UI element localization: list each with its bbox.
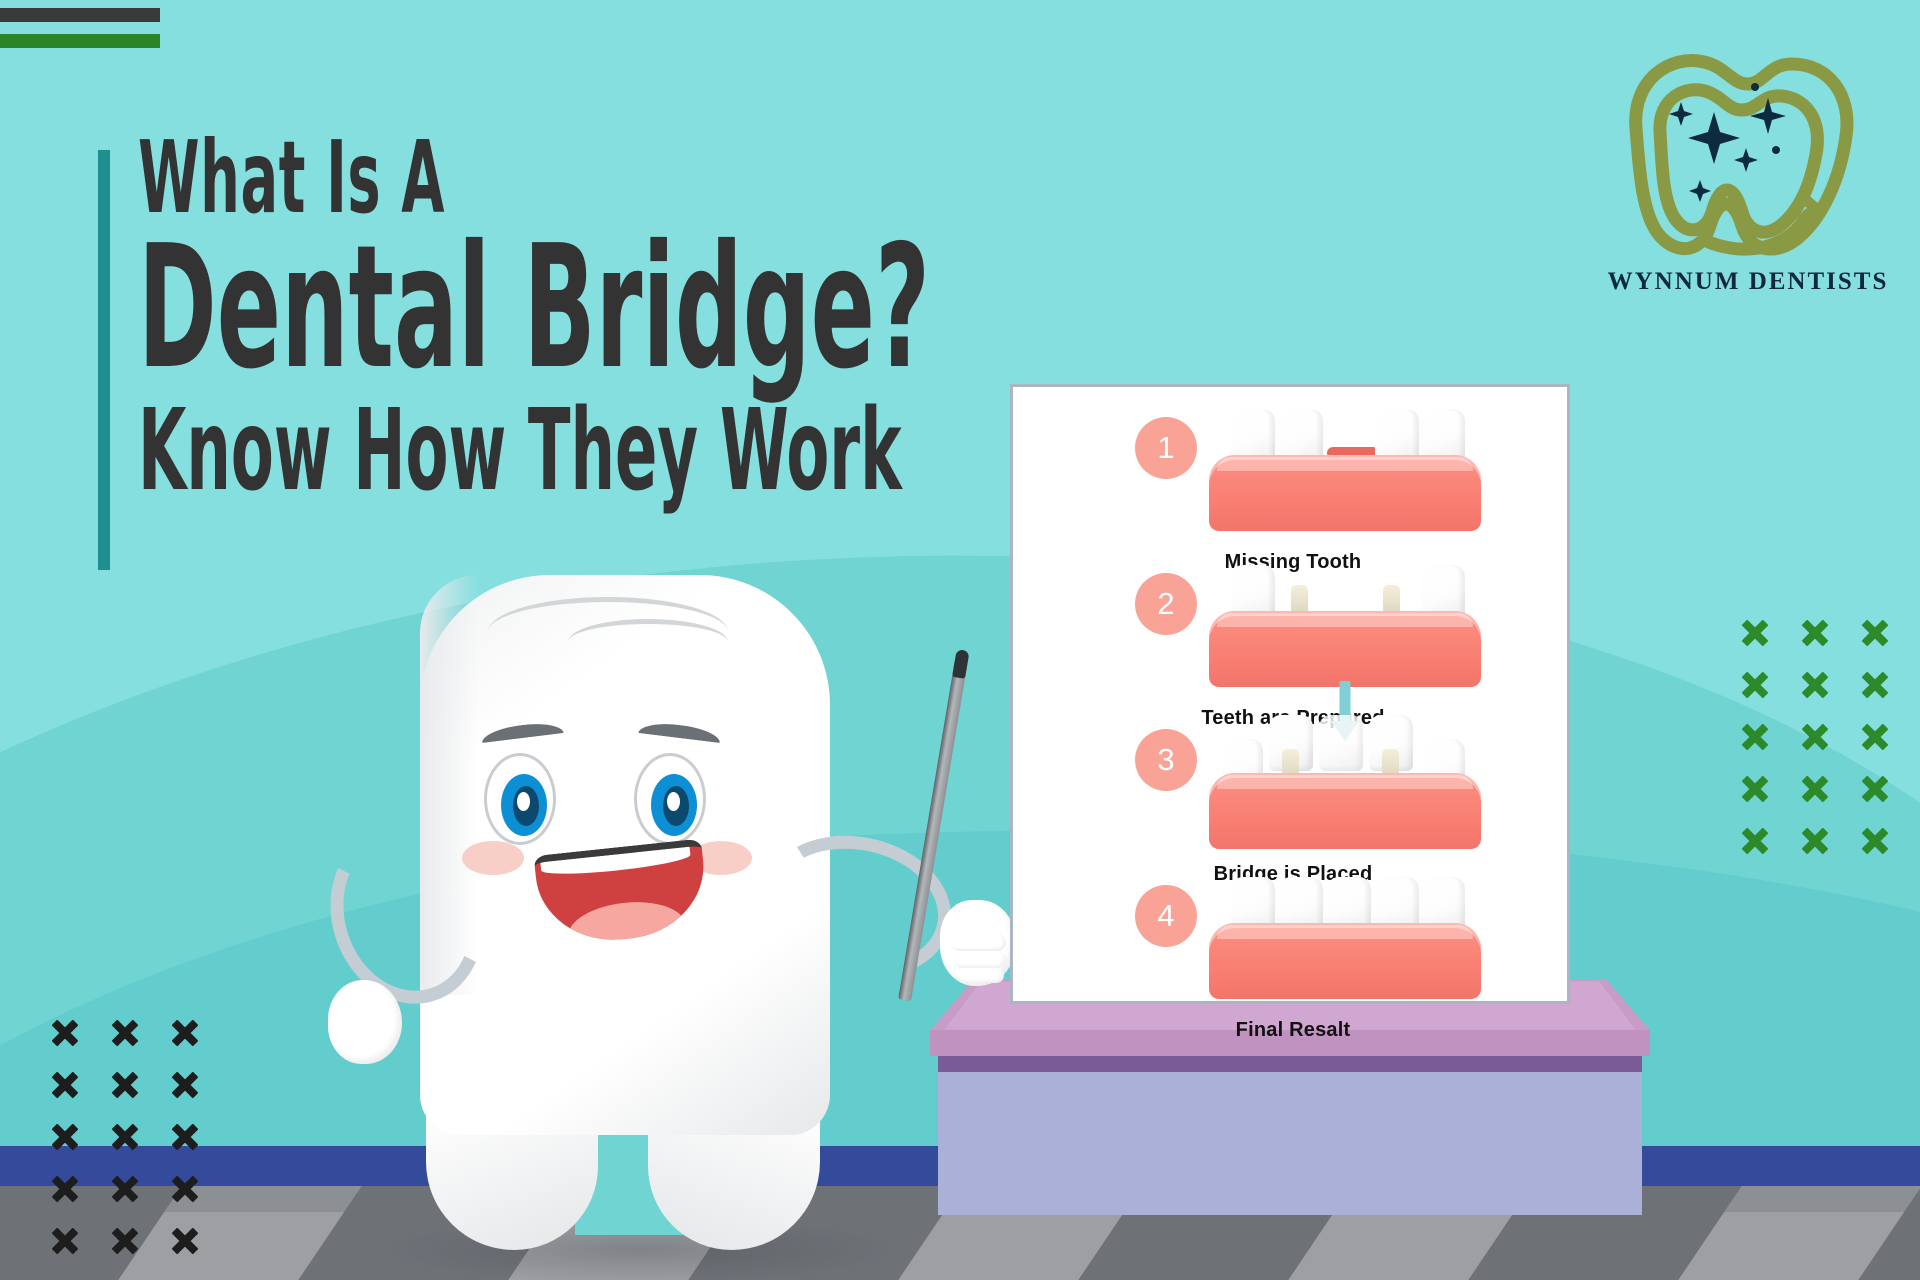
step-number-badge: 3 xyxy=(1135,729,1197,791)
x-mark-icon xyxy=(1862,776,1888,802)
tooth-enamel-line-secondary xyxy=(568,619,728,665)
x-mark-icon xyxy=(1862,724,1888,750)
step-number-badge: 1 xyxy=(1135,417,1197,479)
finger xyxy=(950,934,1006,951)
gum-ridge xyxy=(1217,925,1473,939)
table-accent-band xyxy=(938,1056,1642,1072)
gum-ridge xyxy=(1217,457,1473,471)
x-mark-icon xyxy=(1742,672,1768,698)
presentation-table xyxy=(930,980,1650,1215)
x-mark-icon xyxy=(1802,672,1828,698)
x-mark-icon xyxy=(1862,620,1888,646)
x-mark-icon xyxy=(172,1020,198,1046)
hand-left xyxy=(328,980,402,1064)
gum-shape xyxy=(1209,773,1481,849)
x-mark-icon xyxy=(1802,724,1828,750)
brand-logo[interactable]: WYNNUM DENTISTS xyxy=(1608,40,1908,320)
x-mark-icon xyxy=(52,1020,78,1046)
smiling-tooth-mascot xyxy=(390,575,860,1265)
iris-right xyxy=(651,774,697,836)
x-pattern-right xyxy=(1742,620,1888,854)
dental-bridge-steps-poster[interactable]: 1 Missing Tooth 2 Teeth are Prepared xyxy=(1010,384,1570,1004)
x-mark-icon xyxy=(1802,776,1828,802)
step-label: Missing Tooth xyxy=(1013,551,1573,574)
eye-left xyxy=(484,753,556,845)
x-mark-icon xyxy=(172,1124,198,1150)
gum-shape xyxy=(1209,611,1481,687)
x-mark-icon xyxy=(1862,828,1888,854)
title-line-3: Know How They Work xyxy=(138,400,930,503)
x-mark-icon xyxy=(112,1176,138,1202)
x-mark-icon xyxy=(1802,828,1828,854)
x-mark-icon xyxy=(112,1228,138,1254)
title-accent-bar xyxy=(98,150,110,570)
step-label: Final Resalt xyxy=(1013,1019,1573,1042)
x-pattern-left xyxy=(52,1020,198,1254)
x-mark-icon xyxy=(172,1228,198,1254)
iris-left xyxy=(501,774,547,836)
x-mark-icon xyxy=(52,1124,78,1150)
gum-shape xyxy=(1209,455,1481,531)
pupil-right xyxy=(663,786,689,826)
x-mark-icon xyxy=(172,1176,198,1202)
x-mark-icon xyxy=(112,1020,138,1046)
gum-ridge xyxy=(1217,775,1473,789)
x-mark-icon xyxy=(1862,672,1888,698)
x-mark-icon xyxy=(52,1176,78,1202)
title-line-2: Dental Bridge? xyxy=(138,230,930,386)
tooth-sparkle-logo-icon xyxy=(1608,40,1878,270)
blush-left xyxy=(462,841,524,875)
x-mark-icon xyxy=(1802,620,1828,646)
gum-shape xyxy=(1209,923,1481,999)
eye-right xyxy=(634,753,706,845)
finger xyxy=(958,968,1004,983)
x-mark-icon xyxy=(1742,828,1768,854)
x-mark-icon xyxy=(1742,776,1768,802)
step-number-badge: 2 xyxy=(1135,573,1197,635)
x-mark-icon xyxy=(1742,620,1768,646)
decor-bar-green xyxy=(0,34,160,48)
gum-ridge xyxy=(1217,613,1473,627)
hand-right-gripping xyxy=(940,900,1016,986)
step-number-badge: 4 xyxy=(1135,885,1197,947)
table-front-panel xyxy=(938,1072,1642,1215)
x-mark-icon xyxy=(112,1072,138,1098)
eye-glint-left xyxy=(517,792,530,811)
x-mark-icon xyxy=(52,1228,78,1254)
logo-brand-text: WYNNUM DENTISTS xyxy=(1588,268,1908,296)
infographic-canvas: What Is A Dental Bridge? Know How They W… xyxy=(0,0,1920,1280)
pupil-left xyxy=(513,786,539,826)
x-mark-icon xyxy=(172,1072,198,1098)
x-mark-icon xyxy=(52,1072,78,1098)
finger xyxy=(954,952,1006,968)
bridge-pontic-icon xyxy=(1319,715,1363,771)
x-mark-icon xyxy=(1742,724,1768,750)
x-mark-icon xyxy=(112,1124,138,1150)
eye-glint-right xyxy=(667,792,680,811)
decor-bar-dark xyxy=(0,8,160,22)
